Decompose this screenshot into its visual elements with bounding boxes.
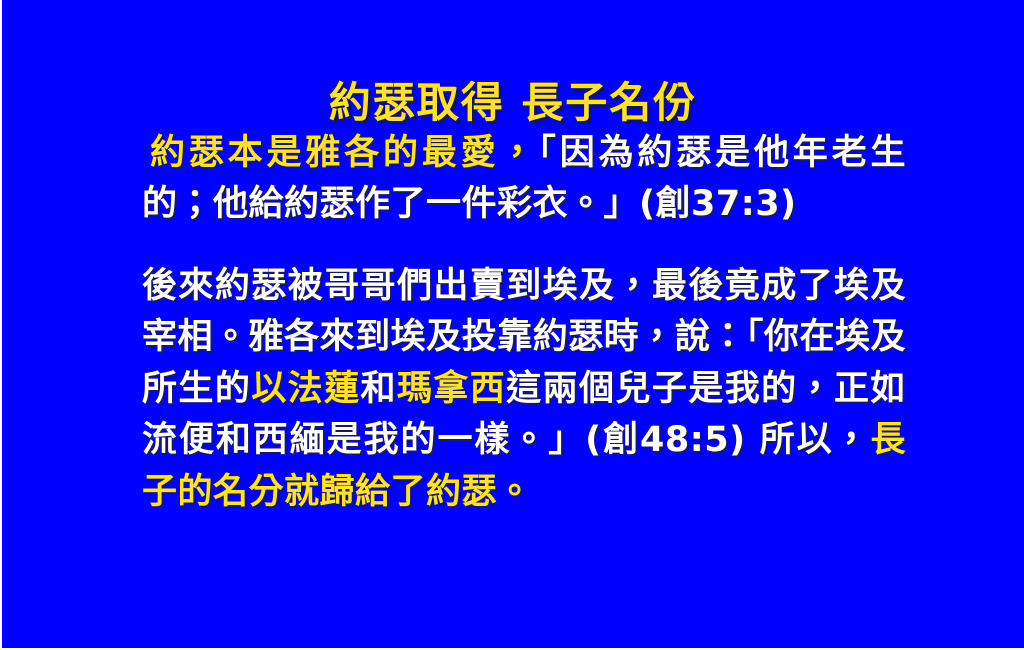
paragraph-2-run-conjunction: 和 [361,369,397,409]
paragraph-2: 後來約瑟被哥哥們出賣到埃及，最後竟成了埃及宰相。雅各來到埃及投靠約瑟時，說：「你… [142,261,906,518]
slide-canvas: 約瑟取得 長子名份 約瑟本是雅各的最愛，「因為約瑟是他年老生的；他給約瑟作了一件… [0,0,1024,650]
paragraph-2-run-manasseh: 瑪拿西 [397,369,506,409]
slide-body: 約瑟本是雅各的最愛，「因為約瑟是他年老生的；他給約瑟作了一件彩衣。」(創37:3… [142,128,906,518]
paragraph-1-run-1: 約瑟本是雅各的最愛， [150,133,538,173]
paragraph-2-run-ephraim: 以法蓮 [251,369,360,409]
paragraph-1: 約瑟本是雅各的最愛，「因為約瑟是他年老生的；他給約瑟作了一件彩衣。」(創37:3… [142,128,906,231]
page-title: 約瑟取得 長子名份 [2,80,1024,126]
